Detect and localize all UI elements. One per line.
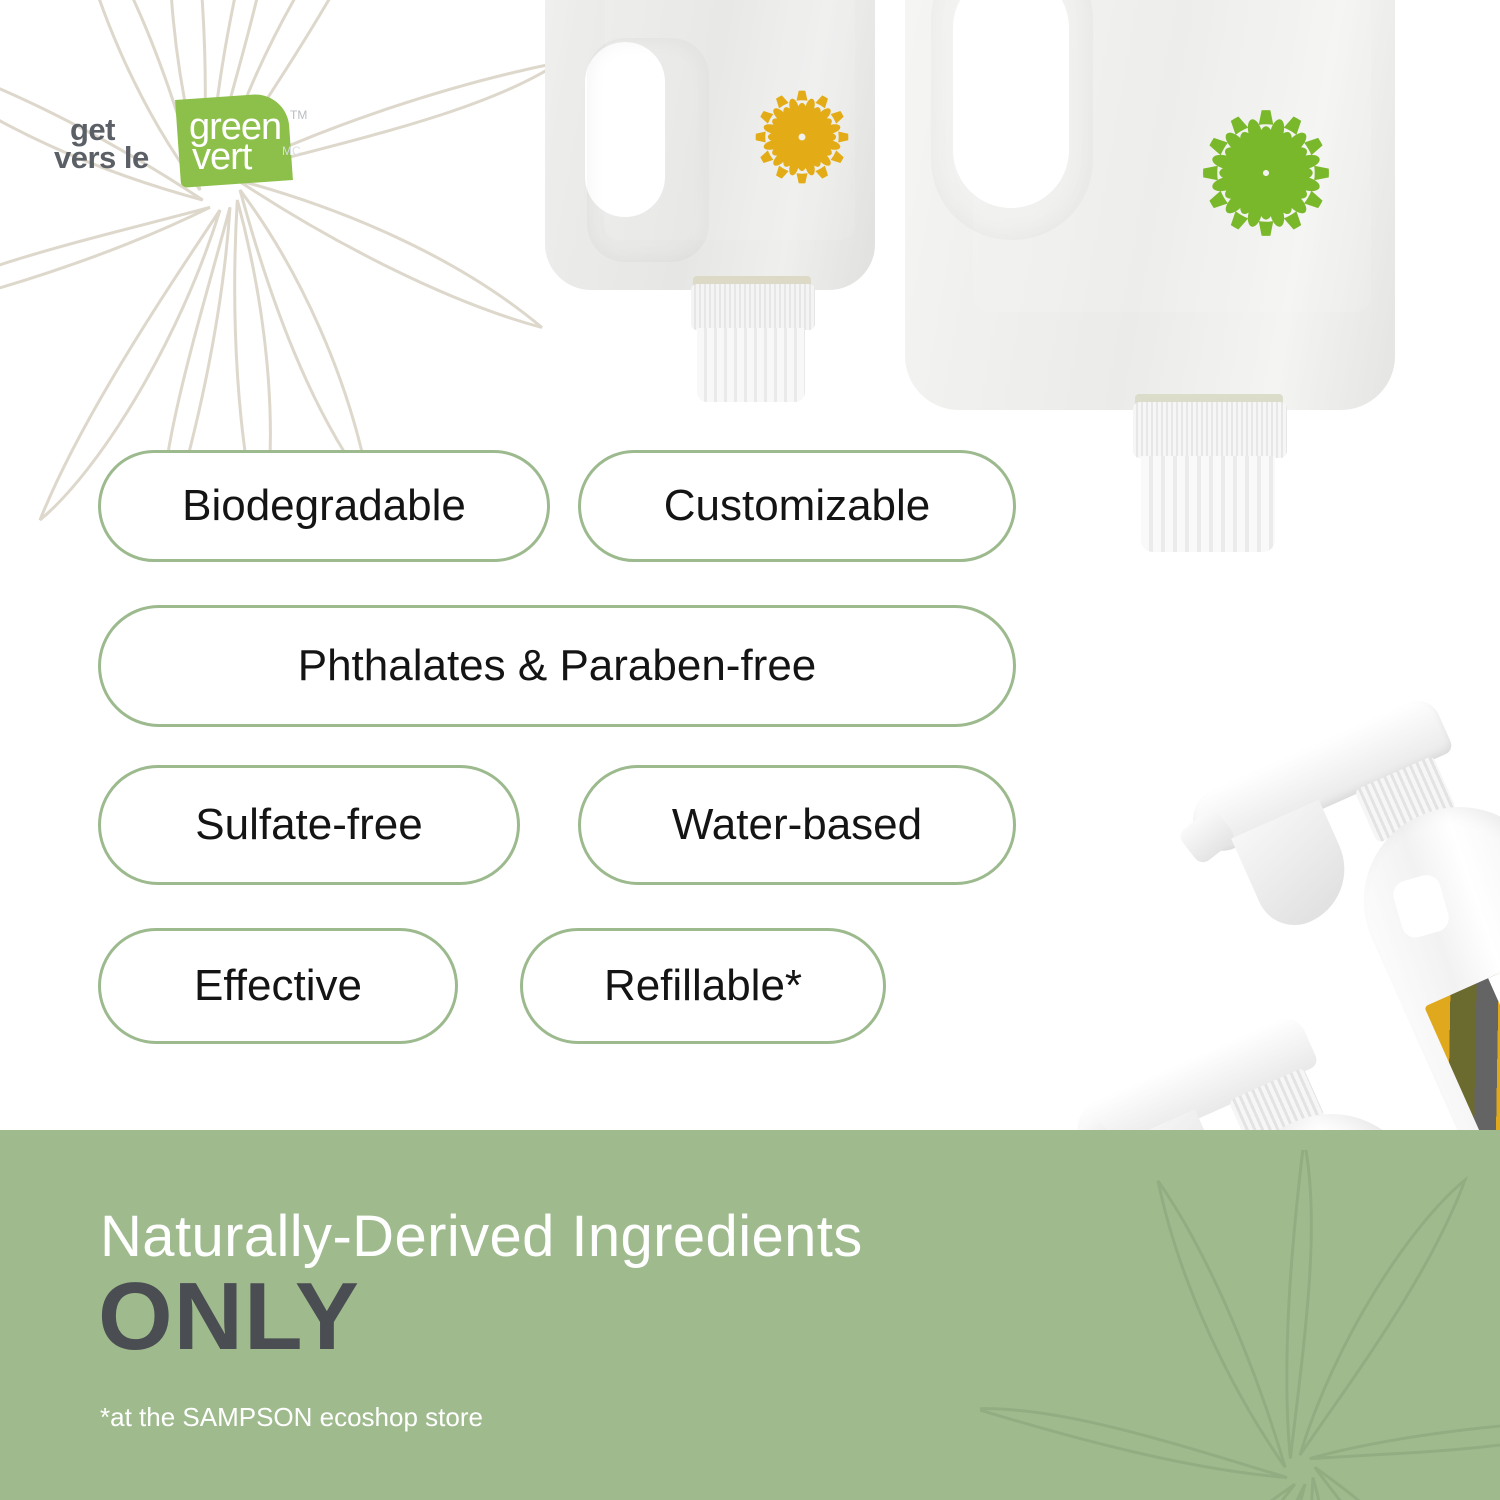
banner-emphasis: ONLY [98,1262,360,1372]
brand-logo[interactable]: get vers le green vert TM MC [60,92,350,192]
poster-canvas: ssant c softener [0,0,1500,1500]
banner-title: Naturally-Derived Ingredients [100,1203,863,1270]
jug-cap-ring [691,284,815,330]
feature-pill-sulfate-free[interactable]: Sulfate-free [98,765,520,885]
feature-pill-effective[interactable]: Effective [98,928,458,1044]
logo-text-vert: vert [192,136,251,179]
flower-watermark-icon-banner [980,1150,1500,1500]
product-fabric-softener-jug: ssant c softener [545,0,875,310]
floral-burst-icon-green [1193,100,1339,246]
jug-cap-ring [1133,402,1287,458]
floral-burst-icon-yellow [747,82,857,192]
feature-pill-customizable[interactable]: Customizable [578,450,1016,562]
product-laundry-jug: laundry [905,0,1395,460]
jug-cap [1141,456,1275,552]
trademark-mc-icon: MC [282,144,301,158]
banner-footnote: *at the SAMPSON ecoshop store [100,1402,483,1433]
jug-cap [697,328,805,402]
feature-pill-biodegradable[interactable]: Biodegradable [98,450,550,562]
feature-pill-phthalates-paraben-free[interactable]: Phthalates & Paraben-free [98,605,1016,727]
feature-pill-refillable[interactable]: Refillable* [520,928,886,1044]
logo-text-vers-le: vers le [54,140,149,176]
feature-pill-water-based[interactable]: Water-based [578,765,1016,885]
trademark-tm-icon: TM [290,108,307,122]
